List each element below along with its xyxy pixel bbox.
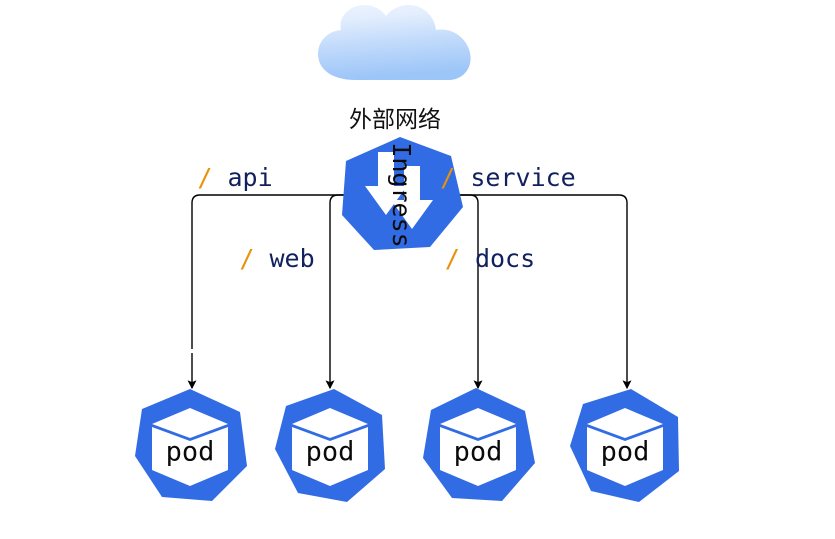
pod-label: pod [166,437,215,468]
path-label-api: / api [197,163,272,192]
pod-node[interactable]: pod [275,389,385,502]
path-label-docs: / docs [445,244,535,273]
path-slash-docs: / [445,244,460,273]
path-label-service: / service [440,163,575,192]
external-network-cloud [318,5,471,80]
cloud-shape [318,5,471,80]
path-slash-service: / [440,163,455,192]
path-name-docs: docs [475,244,535,273]
edge-web [330,195,345,388]
path-slash-api: / [197,163,212,192]
external-network-label: 外部网络 [349,107,441,133]
diagram-canvas: 外部网络 Ingress [0,0,835,539]
diagram-svg: 外部网络 Ingress [0,0,835,539]
pod-node[interactable]: pod [570,389,679,502]
edge-service [455,195,627,388]
pod-label: pod [306,437,355,468]
path-slash-web: / [239,244,254,273]
pod-node[interactable]: pod [135,389,247,501]
pod-label: pod [601,437,650,468]
ingress-label: Ingress [387,142,416,247]
path-name-api: api [227,163,272,192]
pod-node[interactable]: pod [423,388,535,501]
pod-label: pod [454,437,503,468]
edge-docs [455,195,478,388]
path-name-web: web [269,244,314,273]
ingress-node[interactable]: Ingress [342,137,463,250]
path-name-service: service [470,163,575,192]
path-label-web: / web [239,244,314,273]
